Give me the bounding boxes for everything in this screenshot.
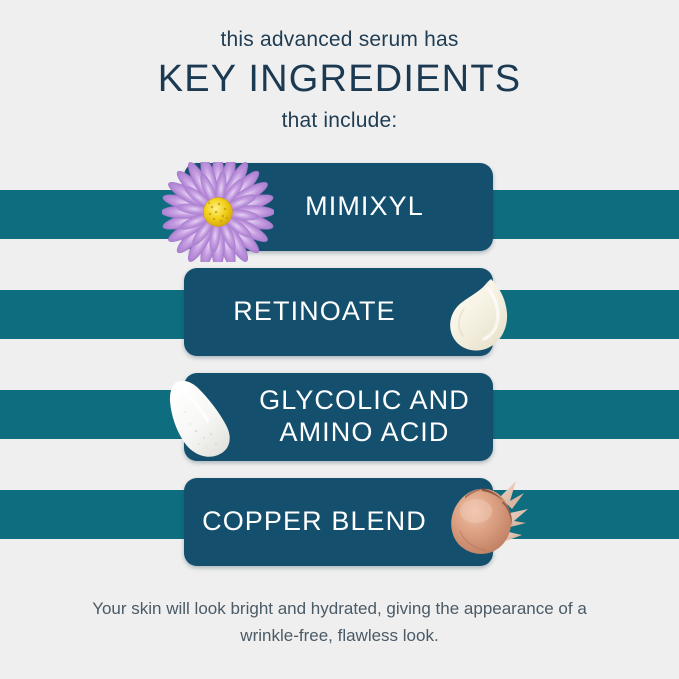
page-title: KEY INGREDIENTS [0, 58, 679, 101]
ingredient-card-glycolic-amino-acid[interactable]: GLYCOLIC AND AMINO ACID [184, 373, 493, 461]
footer-line-1: Your skin will look bright and hydrated,… [60, 596, 619, 623]
ingredient-label: RETINOATE [233, 296, 395, 328]
ingredient-card-retinoate[interactable]: RETINOATE [184, 268, 493, 356]
header-subkicker: that include: [0, 107, 679, 135]
ingredient-label: COPPER BLEND [202, 506, 427, 538]
footer-line-2: wrinkle-free, flawless look. [60, 623, 619, 650]
footer-description: Your skin will look bright and hydrated,… [60, 596, 619, 650]
ingredient-card-mimixyl[interactable]: MIMIXYL [184, 163, 493, 251]
ingredient-card-copper-blend[interactable]: COPPER BLEND [184, 478, 493, 566]
header-kicker: this advanced serum has [0, 26, 679, 54]
key-ingredients-infographic: this advanced serum has KEY INGREDIENTS … [0, 0, 679, 679]
header-block: this advanced serum has KEY INGREDIENTS … [0, 26, 679, 135]
ingredient-label: GLYCOLIC AND AMINO ACID [259, 385, 470, 449]
ingredient-label: MIMIXYL [305, 191, 424, 223]
